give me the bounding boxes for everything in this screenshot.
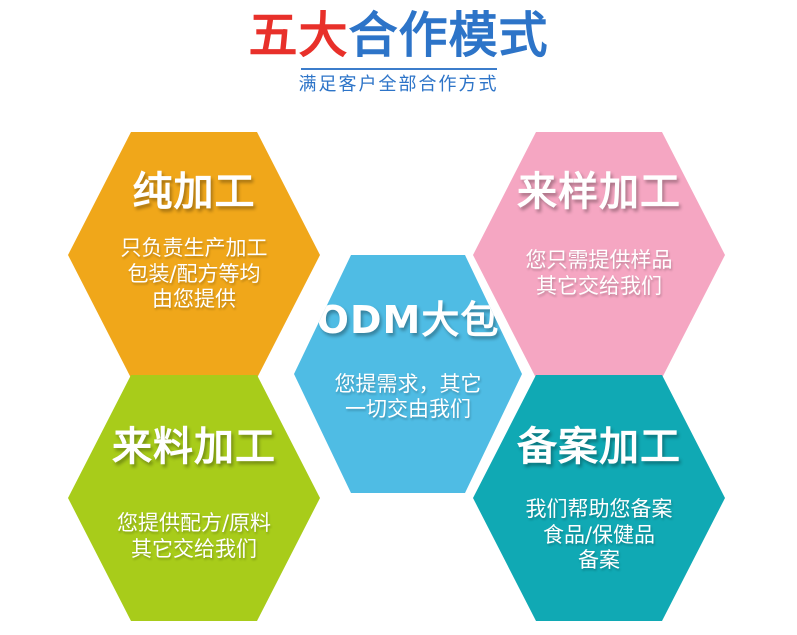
header-block: 五大合作模式 满足客户全部合作方式: [0, 10, 797, 96]
hexagon-description: 您提供配方/原料 其它交给我们: [117, 511, 271, 562]
description-line: 我们帮助您备案: [526, 497, 673, 523]
description-line: 您提需求，其它: [335, 372, 482, 398]
hexagon-description: 您提需求，其它 一切交由我们: [335, 372, 482, 423]
page-subtitle: 满足客户全部合作方式: [0, 74, 797, 96]
page-title-rest: 合作模式: [349, 7, 549, 64]
hexagon-title: 来样加工: [517, 170, 681, 214]
description-line: 一切交由我们: [335, 397, 482, 423]
infographic-canvas: 五大合作模式 满足客户全部合作方式 纯加工 只负责生产加工 包装/配方等均 由您…: [0, 0, 797, 635]
hexagon-title: ODM大包: [317, 300, 500, 342]
hexagon-card-sample-processing[interactable]: 来样加工 您只需提供样品 其它交给我们: [473, 132, 725, 378]
hexagon-title: 来料加工: [112, 425, 276, 469]
hexagon-card-odm-full-package[interactable]: ODM大包 您提需求，其它 一切交由我们: [294, 255, 522, 493]
hexagon-title: 备案加工: [517, 425, 681, 469]
hexagon-card-material-processing[interactable]: 来料加工 您提供配方/原料 其它交给我们: [68, 375, 320, 621]
hexagon-description: 您只需提供样品 其它交给我们: [526, 248, 673, 299]
description-line: 您只需提供样品: [526, 248, 673, 274]
description-line: 其它交给我们: [526, 274, 673, 300]
hexagon-title: 纯加工: [133, 170, 256, 214]
description-line: 食品/保健品: [526, 523, 673, 549]
hexagon-card-pure-processing[interactable]: 纯加工 只负责生产加工 包装/配方等均 由您提供: [68, 132, 320, 378]
description-line: 由您提供: [121, 287, 268, 313]
hexagon-card-record-processing[interactable]: 备案加工 我们帮助您备案 食品/保健品 备案: [473, 375, 725, 621]
page-title: 五大合作模式: [0, 10, 797, 62]
description-line: 包装/配方等均: [121, 262, 268, 288]
description-line: 您提供配方/原料: [117, 511, 271, 537]
description-line: 其它交给我们: [117, 537, 271, 563]
page-title-highlight: 五大: [248, 7, 348, 64]
title-divider: [301, 68, 497, 70]
description-line: 备案: [526, 548, 673, 574]
hexagon-description: 只负责生产加工 包装/配方等均 由您提供: [121, 236, 268, 313]
hexagon-description: 我们帮助您备案 食品/保健品 备案: [526, 497, 673, 574]
description-line: 只负责生产加工: [121, 236, 268, 262]
